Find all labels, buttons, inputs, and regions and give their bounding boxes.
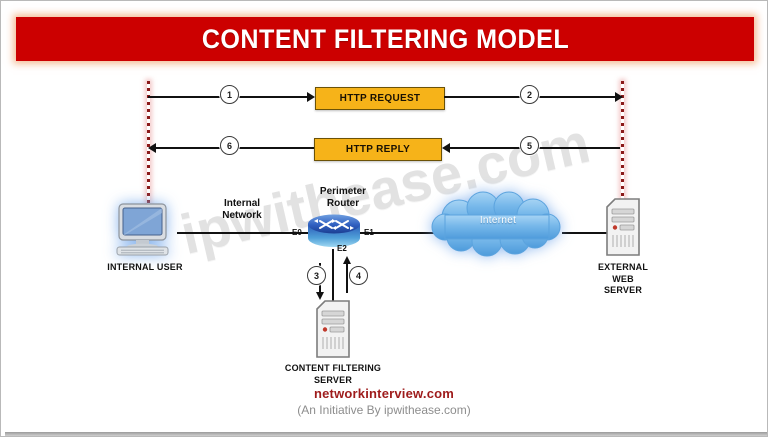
step-badge-6: 6 — [220, 136, 239, 155]
step-4-arrowhead-up — [343, 256, 351, 264]
perimeter-router-label-line1: Perimeter — [301, 186, 385, 198]
external-web-server-label: EXTERNAL WEB SERVER — [579, 262, 667, 297]
footer-tagline: (An Initiative By ipwithease.com) — [1, 403, 767, 417]
step-4-line — [346, 263, 348, 293]
external-web-server-label-line2: WEB — [579, 274, 667, 286]
perimeter-router-label: Perimeter Router — [301, 186, 385, 210]
http-reply-arrowhead-into-box — [442, 143, 450, 153]
internet-label: Internet — [425, 215, 571, 226]
router-icon — [306, 213, 362, 249]
external-web-server-label-line1: EXTERNAL — [579, 262, 667, 274]
router-interface-e1-label: E1 — [364, 228, 374, 237]
internal-network-label-line1: Internal — [197, 198, 287, 210]
content-filtering-server-label-line1: CONTENT FILTERING — [273, 363, 393, 375]
http-reply-arrowhead-internal — [148, 143, 156, 153]
router-to-filter-server-link — [332, 249, 334, 301]
http-request-label: HTTP REQUEST — [340, 93, 421, 104]
internal-user-label: INTERNAL USER — [101, 262, 189, 274]
content-filtering-server-icon — [311, 299, 355, 361]
step-badge-5: 5 — [520, 136, 539, 155]
title-banner: CONTENT FILTERING MODEL — [16, 17, 754, 61]
step-badge-4: 4 — [349, 266, 368, 285]
router-interface-e2-label: E2 — [337, 244, 347, 253]
http-request-box: HTTP REQUEST — [315, 87, 445, 110]
step-badge-1: 1 — [220, 85, 239, 104]
external-web-server-icon — [601, 197, 645, 259]
page-title: CONTENT FILTERING MODEL — [201, 24, 568, 55]
http-request-arrowhead-into-box — [307, 92, 315, 102]
footer: networkinterview.com (An Initiative By i… — [1, 386, 767, 417]
content-filtering-server-label-line2: SERVER — [273, 375, 393, 387]
router-interface-e0-label: E0 — [292, 228, 302, 237]
external-web-server-label-line3: SERVER — [579, 285, 667, 297]
desktop-computer-icon — [111, 201, 177, 259]
content-filtering-model-diagram: CONTENT FILTERING MODEL ipwithease.com H… — [0, 0, 768, 437]
step-badge-3: 3 — [307, 266, 326, 285]
internal-network-label: Internal Network — [197, 198, 287, 222]
http-reply-label: HTTP REPLY — [346, 144, 410, 155]
perimeter-router-label-line2: Router — [301, 198, 385, 210]
diagram-canvas: CONTENT FILTERING MODEL ipwithease.com H… — [1, 1, 767, 436]
http-request-arrowhead-external — [615, 92, 623, 102]
step-badge-2: 2 — [520, 85, 539, 104]
internal-network-link — [177, 232, 308, 234]
content-filtering-server-label: CONTENT FILTERING SERVER — [273, 363, 393, 386]
http-reply-box: HTTP REPLY — [314, 138, 442, 161]
internal-network-label-line2: Network — [197, 210, 287, 222]
footer-site-name: networkinterview.com — [1, 386, 767, 401]
